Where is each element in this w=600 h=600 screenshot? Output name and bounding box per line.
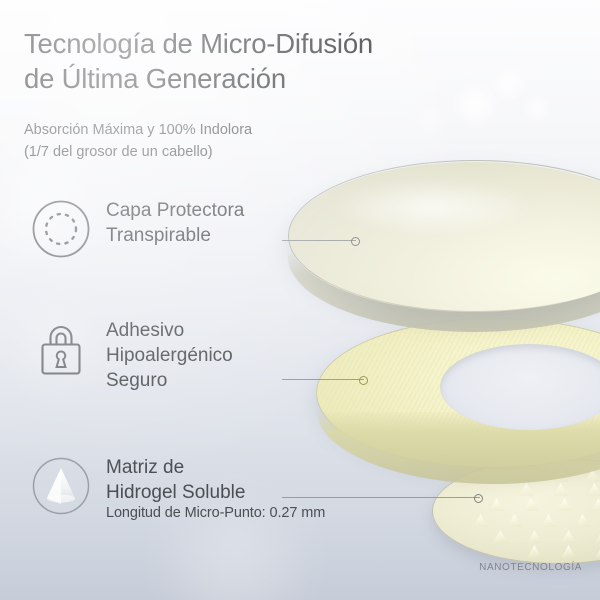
feature-label-protective-film: Capa Protectora Transpirable — [106, 198, 244, 248]
leader-line-matrix — [282, 497, 480, 498]
microneedle — [519, 483, 534, 496]
watermark-label: NANOTECNOLOGÍA — [479, 562, 582, 573]
microneedle — [587, 483, 600, 496]
microneedle — [493, 530, 508, 543]
microneedle — [541, 514, 556, 527]
microneedle — [557, 498, 572, 511]
protective-film-highlight — [330, 178, 540, 236]
microneedle — [489, 498, 504, 511]
microneedle — [523, 498, 538, 511]
leader-line-protective-film — [282, 240, 356, 241]
leader-line-adhesive — [282, 379, 364, 380]
microneedle — [561, 530, 576, 543]
padlock-icon — [30, 318, 92, 380]
page-subtitle: Absorción Máxima y 100% Indolora (1/7 de… — [24, 120, 384, 164]
microneedle — [595, 530, 600, 543]
microneedle — [553, 483, 568, 496]
page-title: Tecnología de Micro-Difusión de Última G… — [24, 27, 454, 96]
microneedle — [527, 530, 542, 543]
microneedle — [507, 514, 522, 527]
leader-dot-protective-film — [351, 237, 360, 246]
feature-item-protective-film[interactable]: Capa Protectora Transpirable — [30, 198, 244, 260]
feature-label-adhesive: Adhesivo Hipoalergénico Seguro — [106, 318, 233, 393]
microneedle — [591, 498, 600, 511]
adhesive-ring — [316, 318, 600, 468]
microneedle — [527, 545, 542, 558]
microneedle-cone-icon — [30, 455, 92, 517]
infographic-canvas: Tecnología de Micro-Difusión de Última G… — [0, 0, 600, 600]
feature-item-adhesive[interactable]: Adhesivo Hipoalergénico Seguro — [30, 318, 233, 393]
leader-dot-adhesive — [359, 376, 368, 385]
dashed-circle-icon — [30, 198, 92, 260]
microneedle — [473, 514, 488, 527]
microneedle — [595, 545, 600, 558]
micro-point-length-note: Longitud de Micro-Punto: 0.27 mm — [106, 505, 325, 521]
microneedle — [575, 514, 590, 527]
feature-label-matrix: Matriz de Hidrogel Soluble — [106, 455, 245, 505]
microneedle — [561, 545, 576, 558]
leader-dot-matrix — [474, 494, 483, 503]
